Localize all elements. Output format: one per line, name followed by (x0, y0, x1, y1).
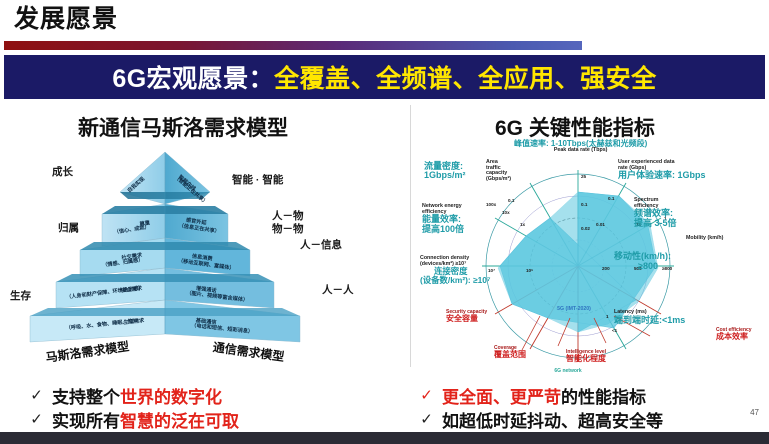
check-icon: ✓ (420, 410, 433, 428)
left-bullet-item-1: ✓ 支持整个世界的数字化 (30, 383, 239, 407)
kpi-user-experienced-data-rate: User experienced data rate (Gbps) 用户体验速率… (618, 160, 706, 181)
pyramid-label-belonging: 归属 (58, 220, 79, 235)
left-bullet-1-red: 世界的数字化 (120, 388, 222, 407)
base-label-right: 通信需求模型 (212, 339, 285, 364)
pyramid-label-human-human: 人－人 (322, 282, 354, 297)
kpi-spectrum-efficiency-cn2: 提高 3-5倍 (634, 219, 684, 228)
svg-text:0.02: 0.02 (581, 226, 590, 231)
svg-text:0.1: 0.1 (508, 198, 515, 203)
left-bullet-text-2: 实现所有智慧的泛在可取 (52, 407, 239, 432)
kpi-peak-data-rate-en: Peak data rate (Tbps) (514, 148, 647, 154)
left-bullet-item-2: ✓ 实现所有智慧的泛在可取 (30, 407, 239, 431)
svg-text:0.01: 0.01 (596, 222, 605, 227)
page-number: 47 (750, 408, 759, 417)
check-icon: ✓ (30, 410, 43, 428)
pyramid-label-survival: 生存 (10, 288, 31, 303)
svg-text:1: 1 (606, 314, 609, 319)
kpi-mobility-en: Mobility (km/h) (686, 236, 723, 242)
svg-text:200: 200 (602, 266, 610, 271)
kpi-security-capacity: Security capacity 安全容量 (446, 310, 487, 324)
kpi-intelligence-level-cn: 智能化程度 (566, 355, 606, 363)
right-bullet-1-plain: 的性能指标 (561, 388, 646, 407)
left-bullet-2-plain: 实现所有 (52, 412, 120, 431)
kpi-cost-efficiency-cn: 成本效率 (716, 333, 752, 341)
maslow-pyramid-diagram: 自我实现 智能在线 （智能正在共享） 尊重 （信心、成就） 感官外延 （信息正在… (10, 142, 405, 372)
kpi-mobility: Mobility (km/h) 移动性(km/h): ≥800 (686, 236, 723, 242)
pyramid-label-human-info: 人－信息 (300, 237, 342, 252)
kpi-network-energy-efficiency-cn2: 提高100倍 (422, 225, 476, 234)
6g-kpi-radar-chart: 5G (IMT-2020) 25 0.1 0.02 0.1 0.01 1x 1 … (418, 138, 769, 373)
svg-text:10x: 10x (502, 210, 510, 215)
kpi-network-energy-efficiency: Network energy efficiency 能量效率: 提高100倍 (422, 204, 476, 234)
page-title: 发展愿景 (14, 6, 118, 34)
left-bullet-list: ✓ 支持整个世界的数字化 ✓ 实现所有智慧的泛在可取 (30, 383, 239, 431)
banner-yellow-text: 全覆盖、全频谱、全应用、强安全 (274, 65, 657, 93)
panel-divider (410, 105, 411, 367)
kpi-connection-density: Connection density (devices/km²) ≥10⁷ 连接… (420, 256, 490, 285)
svg-text:25: 25 (581, 174, 587, 179)
legend-5g-label: 5G (IMT-2020) (557, 306, 591, 312)
svg-text:10⁶: 10⁶ (526, 268, 533, 273)
kpi-mobility-cn2: ≥800 (638, 262, 658, 271)
kpi-latency-cn: 端到端时延:<1ms (614, 316, 685, 325)
kpi-coverage-cn: 覆盖范围 (494, 351, 526, 359)
pyramid-label-growth: 成长 (52, 164, 73, 179)
kpi-coverage: Coverage 覆盖范围 (494, 346, 526, 360)
svg-text:1x: 1x (520, 222, 526, 227)
left-bullet-2-red: 智慧的泛在可取 (120, 412, 239, 431)
check-icon: ✓ (420, 386, 433, 404)
vision-banner: 6G宏观愿景：全覆盖、全频谱、全应用、强安全 (4, 55, 765, 99)
svg-text:100x: 100x (486, 202, 497, 207)
left-bullet-1-plain: 支持整个 (52, 388, 120, 407)
svg-text:0.1: 0.1 (581, 202, 588, 207)
kpi-area-traffic-capacity-en: Area traffic capacity (Gbps/m²) (486, 160, 511, 182)
kpi-latency: Latency (ms) 端到端时延:<1ms (614, 310, 685, 325)
kpi-security-capacity-cn: 安全容量 (446, 315, 487, 323)
kpi-intelligence-level: Intelligence level 智能化程度 (566, 350, 606, 364)
pyramid-label-intel-intel: 智能 · 智能 (232, 172, 283, 187)
check-icon: ✓ (30, 386, 43, 404)
kpi-peak-data-rate: 峰值速率: 1-10Tbps(太赫兹和光频段) Peak data rate (… (514, 140, 647, 154)
base-label-left: 马斯洛需求模型 (45, 338, 130, 365)
svg-text:≥800: ≥800 (662, 266, 673, 271)
kpi-area-traffic-capacity-cn2: 1Gbps/m² (424, 171, 466, 180)
kpi-spectrum-efficiency: Spectrum efficiency 频谱效率: 提高 3-5倍 (634, 198, 684, 228)
right-bullet-1-red: 更全面、更严苛 (442, 388, 561, 407)
banner-white-text: 6G宏观愿景： (112, 65, 274, 93)
slide-root: 发展愿景 6G宏观愿景：全覆盖、全频谱、全应用、强安全 新通信马斯洛需求模型 (0, 0, 769, 444)
footer-bar (0, 432, 769, 444)
gradient-divider-bar (4, 41, 582, 50)
banner-text: 6G宏观愿景：全覆盖、全频谱、全应用、强安全 (112, 59, 656, 95)
pyramid-label-thing-thing: 物－物 (272, 221, 304, 236)
left-bullet-text-1: 支持整个世界的数字化 (52, 383, 222, 408)
left-panel-title: 新通信马斯洛需求模型 (78, 112, 288, 142)
kpi-user-experienced-data-rate-cn: 用户体验速率: 1Gbps (618, 171, 706, 180)
right-bullet-item-2: ✓ 如超低时延抖动、超高安全等 (420, 407, 663, 431)
right-bullet-text-1: 更全面、更严苛的性能指标 (442, 383, 646, 408)
legend-6g-label: 6G network (554, 368, 581, 373)
right-bullet-text-2: 如超低时延抖动、超高安全等 (442, 407, 663, 432)
right-bullet-item-1: ✓ 更全面、更严苛的性能指标 (420, 383, 663, 407)
kpi-area-traffic-capacity: 流量密度: 1Gbps/m² Area traffic capacity (Gb… (424, 162, 466, 181)
kpi-connection-density-cn2: (设备数/km²): ≥10⁷ (420, 276, 490, 285)
svg-text:0.1: 0.1 (608, 196, 615, 201)
right-bullet-list: ✓ 更全面、更严苛的性能指标 ✓ 如超低时延抖动、超高安全等 (420, 383, 663, 431)
svg-text:<1: <1 (612, 328, 618, 333)
kpi-cost-efficiency: Cost efficiency 成本效率 (716, 328, 752, 342)
